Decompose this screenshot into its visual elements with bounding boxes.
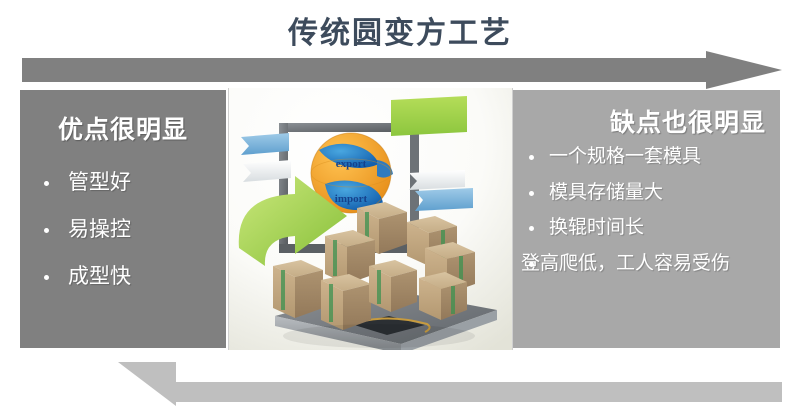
list-item-label: 管型好 xyxy=(68,172,216,193)
list-item-label: 一个规格一套模具 xyxy=(549,147,772,168)
list-item: 成型快 xyxy=(30,266,216,287)
bullet-dot-icon xyxy=(44,181,49,186)
top-banner-arrow xyxy=(22,51,782,89)
list-item-label: 易操控 xyxy=(68,219,216,240)
advantages-heading: 优点很明显 xyxy=(30,110,216,146)
globe-label-import: import xyxy=(335,193,368,205)
list-item-label: 成型快 xyxy=(68,266,216,287)
center-illustration: export import xyxy=(228,88,513,350)
bullet-dot-icon xyxy=(44,228,49,233)
list-item-label: 模具存储量大 xyxy=(549,183,772,204)
bullet-dot-icon xyxy=(529,191,534,196)
list-item: 模具存储量大 xyxy=(521,183,772,204)
advantages-panel: 优点很明显 管型好 易操控 成型快 xyxy=(20,90,226,348)
bottom-banner-arrow xyxy=(118,360,782,408)
list-item: 换辊时间长 xyxy=(521,218,772,239)
disadvantages-list: 一个规格一套模具 模具存储量大 换辊时间长 登高爬低，工人容易受伤 xyxy=(521,147,772,274)
bullet-dot-icon xyxy=(44,275,49,280)
list-item-label: 登高爬低，工人容易受伤 xyxy=(521,254,772,275)
slide-canvas: 传统圆变方工艺 优点很明显 管型好 易操控 成型快 xyxy=(0,0,800,419)
disadvantages-panel: 缺点也很明显 一个规格一套模具 模具存储量大 换辊时间长 登高爬低，工人容易受伤 xyxy=(513,90,780,348)
bullet-dot-icon xyxy=(529,262,534,267)
list-item: 管型好 xyxy=(30,172,216,193)
list-item-label: 换辊时间长 xyxy=(549,218,772,239)
logistics-illustration-icon: export import xyxy=(229,88,512,350)
list-item: 登高爬低，工人容易受伤 xyxy=(521,254,772,275)
bullet-dot-icon xyxy=(529,226,534,231)
bullet-dot-icon xyxy=(529,155,534,160)
list-item: 一个规格一套模具 xyxy=(521,147,772,168)
disadvantages-heading: 缺点也很明显 xyxy=(521,103,766,139)
list-item: 易操控 xyxy=(30,219,216,240)
advantages-list: 管型好 易操控 成型快 xyxy=(30,172,216,287)
page-title: 传统圆变方工艺 xyxy=(0,8,800,52)
globe-label-export: export xyxy=(336,158,367,170)
